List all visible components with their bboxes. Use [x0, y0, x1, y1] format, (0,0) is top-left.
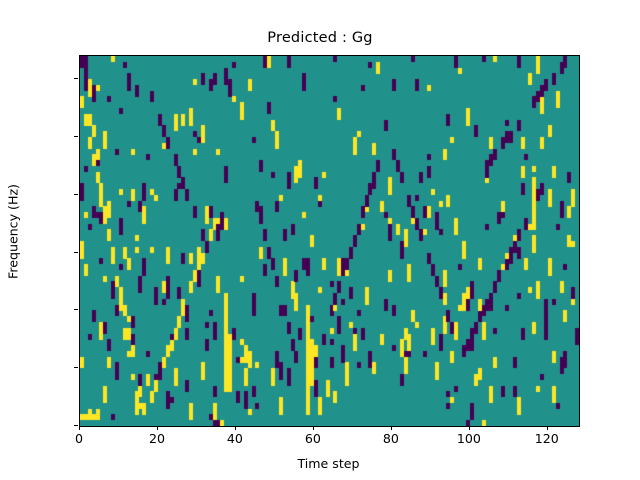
y-tick-mark [74, 367, 78, 368]
x-tick-label: 80 [361, 431, 421, 446]
chart-title: Predicted : Gg [0, 30, 640, 46]
y-axis-label: Frequency (Hz) [6, 47, 21, 417]
x-tick-label: 120 [517, 431, 577, 446]
y-tick-mark [74, 194, 78, 195]
x-tick-label: 60 [283, 431, 343, 446]
x-tick-label: 0 [49, 431, 109, 446]
x-tick-label: 40 [205, 431, 265, 446]
heatmap-image [80, 56, 579, 426]
x-tick-mark [469, 426, 470, 430]
x-tick-label: 100 [439, 431, 499, 446]
x-tick-label: 20 [127, 431, 187, 446]
y-tick-mark [74, 136, 78, 137]
figure: Predicted : Gg Frequency (Hz) 0200004000… [0, 0, 640, 480]
x-axis-label: Time step [79, 456, 578, 471]
x-tick-mark [79, 426, 80, 430]
y-tick-mark [74, 309, 78, 310]
x-tick-mark [313, 426, 314, 430]
heatmap-plot-area [79, 55, 580, 427]
x-tick-mark [235, 426, 236, 430]
y-tick-mark [74, 78, 78, 79]
y-tick-mark [74, 252, 78, 253]
x-tick-mark [547, 426, 548, 430]
x-tick-mark [391, 426, 392, 430]
x-tick-mark [157, 426, 158, 430]
y-tick-mark [74, 425, 78, 426]
